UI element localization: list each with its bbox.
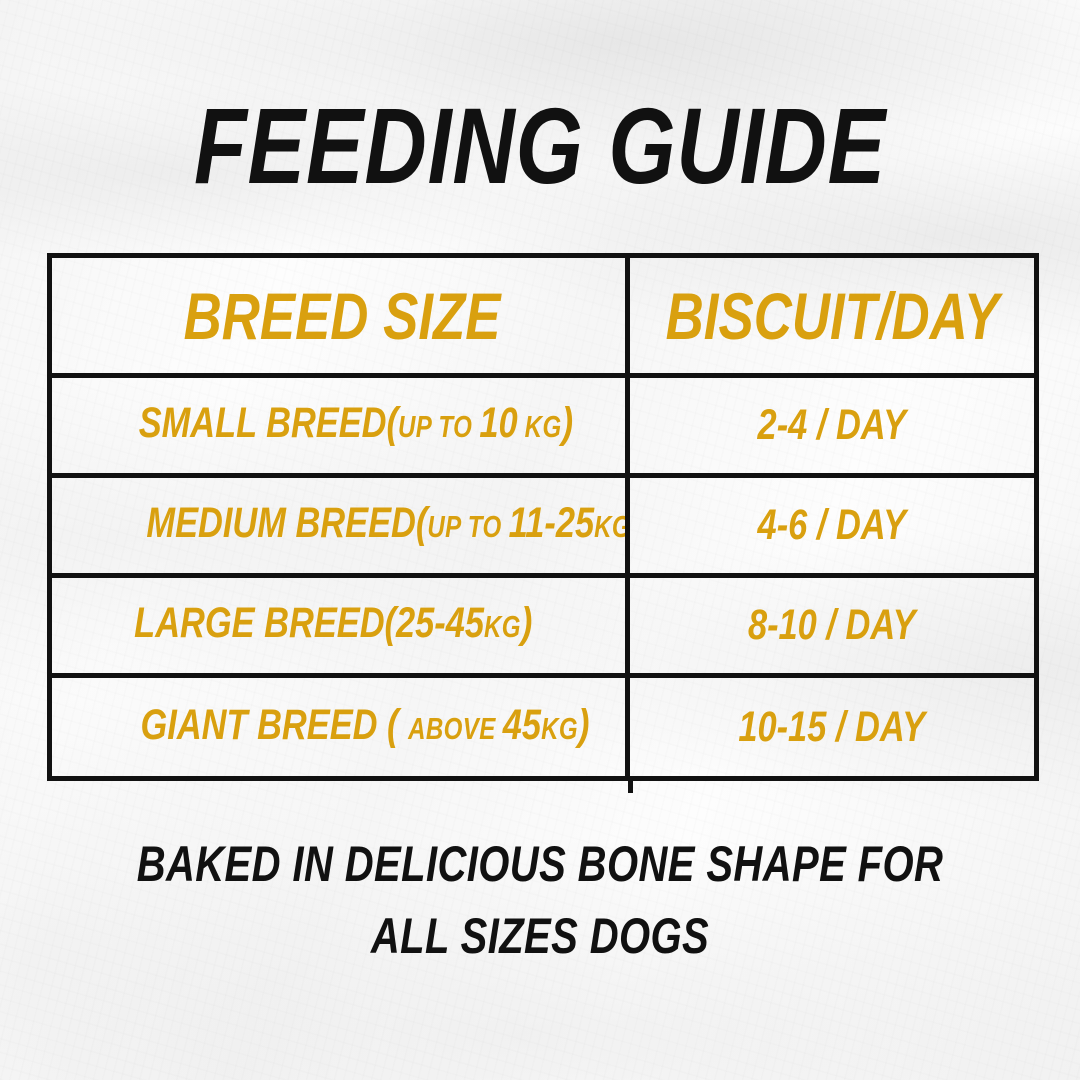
- amount-label-large: 8-10 / DAY: [748, 604, 916, 647]
- table-row: LARGE BREED(25-45KG) 8-10 / DAY: [52, 578, 1034, 678]
- breed-label-large: LARGE BREED(25-45KG): [105, 602, 532, 649]
- cell-amount-small: 2-4 / DAY: [630, 378, 1034, 473]
- amount-label-small: 2-4 / DAY: [758, 404, 906, 447]
- breed-label-medium: MEDIUM BREED(UP TO 11-25KG): [118, 502, 630, 549]
- breed-paren-small: ): [562, 399, 573, 447]
- breed-weight-giant: 45: [503, 701, 541, 749]
- breed-unit-small: KG: [518, 411, 562, 444]
- cell-breed-medium: MEDIUM BREED(UP TO 11-25KG): [52, 478, 630, 573]
- header-cell-breed-size: BREED SIZE: [52, 258, 630, 373]
- tagline-line-1: BAKED IN DELICIOUS BONE SHAPE FOR: [108, 828, 972, 900]
- amount-label-medium: 4-6 / DAY: [758, 504, 906, 547]
- breed-weight-large: 25-45: [396, 599, 484, 647]
- tagline: BAKED IN DELICIOUS BONE SHAPE FOR ALL SI…: [0, 828, 1080, 972]
- cell-breed-small: SMALL BREED(UP TO 10 KG): [52, 378, 630, 473]
- breed-weight-medium: 11-25: [509, 499, 594, 547]
- breed-main-giant: GIANT BREED (: [141, 701, 409, 749]
- cell-breed-giant: GIANT BREED ( ABOVE 45KG): [52, 678, 630, 776]
- breed-unit-large: KG: [484, 611, 521, 644]
- breed-label-giant: GIANT BREED ( ABOVE 45KG): [112, 704, 590, 751]
- cell-amount-giant: 10-15 / DAY: [630, 678, 1034, 776]
- breed-paren-giant: ): [578, 701, 589, 749]
- breed-label-small: SMALL BREED(UP TO 10 KG): [110, 402, 573, 449]
- breed-main-small: SMALL BREED(: [139, 399, 398, 447]
- breed-unit-giant: KG: [541, 713, 578, 746]
- table-header-row: BREED SIZE BISCUIT/DAY: [52, 258, 1034, 378]
- column-divider-tail: [628, 781, 633, 793]
- feeding-guide-table: BREED SIZE BISCUIT/DAY SMALL BREED(UP TO…: [47, 253, 1039, 781]
- breed-main-medium: MEDIUM BREED(: [146, 499, 427, 547]
- table-row: GIANT BREED ( ABOVE 45KG) 10-15 / DAY: [52, 678, 1034, 776]
- cell-amount-large: 8-10 / DAY: [630, 578, 1034, 673]
- header-label-biscuit-per-day: BISCUIT/DAY: [665, 283, 998, 349]
- amount-label-giant: 10-15 / DAY: [739, 706, 926, 749]
- breed-qualifier-giant: ABOVE: [408, 713, 503, 746]
- breed-unit-medium: KG: [594, 511, 630, 544]
- table-row: SMALL BREED(UP TO 10 KG) 2-4 / DAY: [52, 378, 1034, 478]
- breed-qualifier-small: UP TO: [398, 411, 479, 444]
- cell-breed-large: LARGE BREED(25-45KG): [52, 578, 630, 673]
- breed-qualifier-medium: UP TO: [427, 511, 508, 544]
- table-row: MEDIUM BREED(UP TO 11-25KG) 4-6 / DAY: [52, 478, 1034, 578]
- cell-amount-medium: 4-6 / DAY: [630, 478, 1034, 573]
- breed-main-large: LARGE BREED(: [134, 599, 396, 647]
- breed-weight-small: 10: [479, 399, 517, 447]
- feeding-guide-poster: FEEDING GUIDE BREED SIZE BISCUIT/DAY SMA…: [0, 0, 1080, 1080]
- tagline-line-2: ALL SIZES DOGS: [108, 900, 972, 972]
- header-label-breed-size: BREED SIZE: [184, 283, 501, 349]
- page-title: FEEDING GUIDE: [108, 92, 972, 200]
- header-cell-biscuit-per-day: BISCUIT/DAY: [630, 258, 1034, 373]
- breed-paren-large: ): [521, 599, 532, 647]
